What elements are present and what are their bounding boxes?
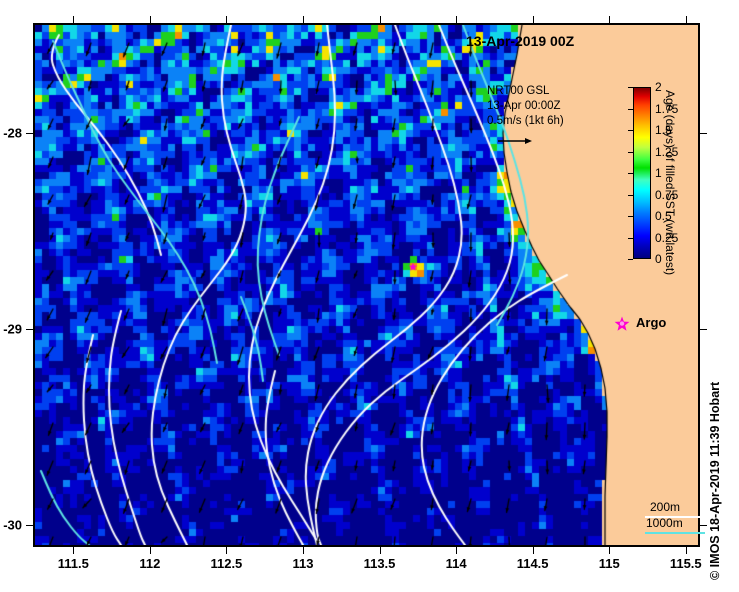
x-axis-tick (686, 547, 687, 554)
colorbar-tick-label: 1.25 (655, 145, 678, 159)
colorbar-tick (628, 195, 633, 196)
x-axis-label: 115 (599, 556, 620, 571)
y-axis-label: -30 (3, 518, 22, 533)
colorbar-tick-label: 0.5 (655, 209, 672, 223)
colorbar-tick-label: 2 (655, 80, 662, 94)
y-axis-label: -29 (3, 322, 22, 337)
colorbar-tick-label: 1.5 (655, 123, 672, 137)
right-arrow-icon (498, 136, 532, 146)
x-axis-tick-top (533, 16, 534, 23)
colorbar-tick (628, 130, 633, 131)
colorbar-tick-label: 1 (655, 166, 662, 180)
x-axis-tick-top (686, 16, 687, 23)
y-axis-tick (26, 525, 33, 526)
colorbar-gradient (633, 87, 651, 259)
x-axis-tick-top (226, 16, 227, 23)
isobath-legend: 200m 1000m (645, 500, 707, 536)
colorbar-tick (628, 109, 633, 110)
argo-float-marker-icon (614, 316, 630, 332)
colorbar-tick (628, 259, 633, 260)
colorbar-tick-label: 0.25 (655, 231, 678, 245)
x-axis-tick (533, 547, 534, 554)
y-axis-tick (26, 329, 33, 330)
x-axis-tick (303, 547, 304, 554)
y-axis-tick-right (700, 133, 707, 134)
argo-legend: Argo (614, 313, 704, 335)
x-axis-label: 114.5 (517, 556, 549, 571)
x-axis-label: 113.5 (364, 556, 396, 571)
copyright-notice: © IMOS 18-Apr-2019 11:39 Hobart (708, 382, 722, 580)
colorbar-tick-label: 0.75 (655, 188, 678, 202)
current-legend-time: 13-Apr 00:00Z (487, 99, 564, 114)
surface-current-legend: NRT00 GSL 13-Apr 00:00Z 0.5m/s (1kt 6h) (487, 84, 564, 129)
x-axis-label: 115.5 (670, 556, 702, 571)
x-axis-tick-top (609, 16, 610, 23)
colorbar-tick-label: 0 (655, 252, 662, 266)
colorbar-tick-label: 1.75 (655, 102, 678, 116)
colorbar-tick (628, 87, 633, 88)
x-axis-label: 112.5 (210, 556, 242, 571)
colorbar-title: Age (days) of filled SST (wrt latest) (663, 90, 677, 275)
x-axis-tick (380, 547, 381, 554)
x-axis-tick-top (303, 16, 304, 23)
x-axis-tick (456, 547, 457, 554)
colorbar-tick (628, 216, 633, 217)
x-axis-label: 113 (292, 556, 313, 571)
x-axis-tick-top (73, 16, 74, 23)
y-axis-label: -28 (3, 125, 22, 140)
x-axis-tick (150, 547, 151, 554)
sst-age-raster-canvas[interactable] (35, 25, 698, 545)
x-axis-tick-top (150, 16, 151, 23)
oceanographic-map-figure: 13-Apr-2019 00Z NRT00 GSL 13-Apr 00:00Z … (0, 0, 739, 592)
colorbar-tick (628, 238, 633, 239)
current-legend-scale: 0.5m/s (1kt 6h) (487, 114, 564, 129)
y-axis-tick-right (700, 329, 707, 330)
isobath-200m-label: 200m (650, 500, 680, 514)
x-axis-label: 111.5 (58, 556, 89, 571)
y-axis-tick (26, 133, 33, 134)
x-axis-tick (226, 547, 227, 554)
map-title: 13-Apr-2019 00Z (466, 33, 574, 49)
x-axis-tick-top (456, 16, 457, 23)
argo-legend-label: Argo (636, 315, 666, 330)
colorbar-tick (628, 173, 633, 174)
isobath-1000m-swatch (645, 532, 705, 534)
isobath-1000m-label: 1000m (646, 516, 683, 530)
x-axis-label: 112 (139, 556, 160, 571)
y-axis-tick-right (700, 525, 707, 526)
colorbar-tick (628, 152, 633, 153)
x-axis-tick-top (380, 16, 381, 23)
x-axis-tick (73, 547, 74, 554)
x-axis-tick (609, 547, 610, 554)
x-axis-label: 114 (446, 556, 467, 571)
map-plot-area[interactable] (33, 23, 700, 547)
current-legend-source: NRT00 GSL (487, 84, 564, 99)
